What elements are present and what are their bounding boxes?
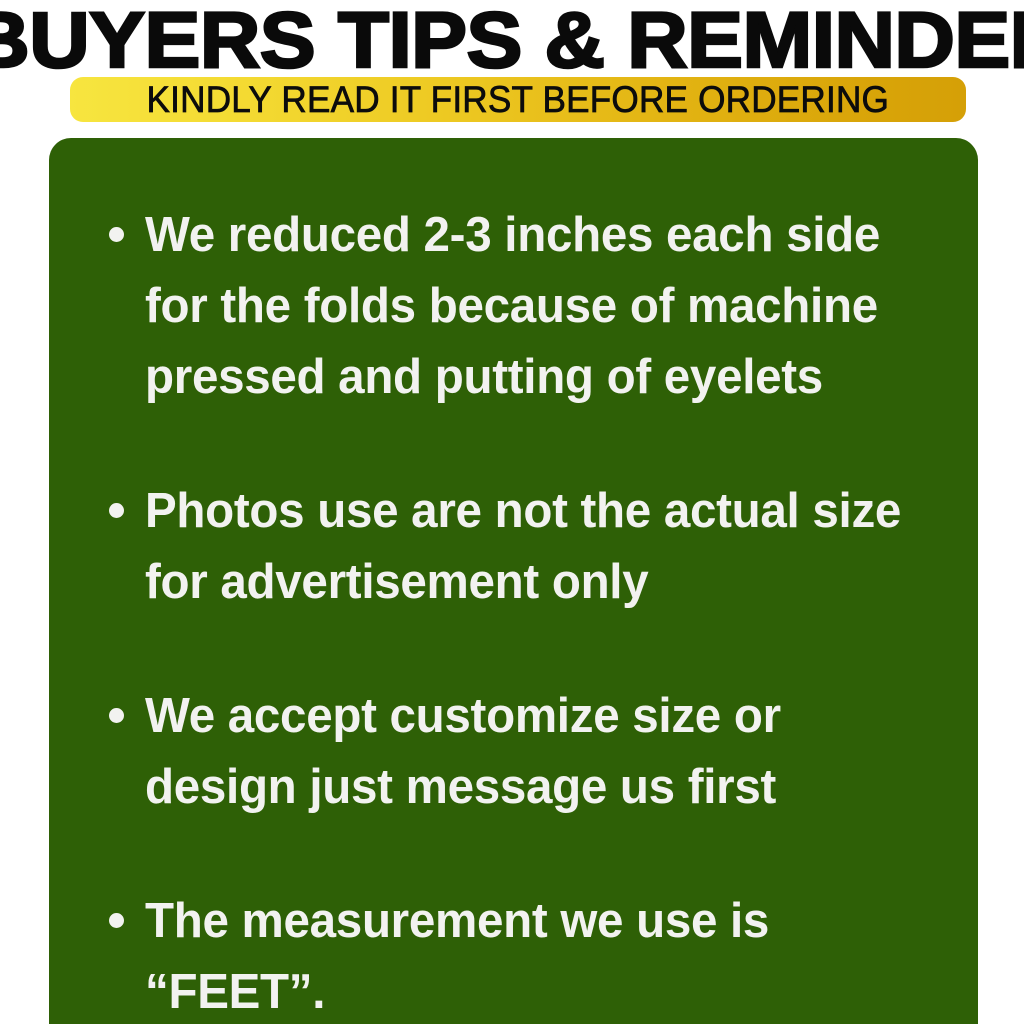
list-item: Photos use are not the actual size for a… [49, 476, 978, 618]
list-item: The measurement we use is “FEET”. [49, 886, 978, 1024]
buyers-tips-poster: BUYERS TIPS & REMINDERS KINDLY READ IT F… [0, 0, 1024, 1024]
bullet-icon [109, 227, 124, 242]
subtitle-banner: KINDLY READ IT FIRST BEFORE ORDERING [70, 77, 966, 122]
subtitle-banner-label: KINDLY READ IT FIRST BEFORE ORDERING [147, 80, 890, 120]
tip-text: We reduced 2-3 inches each side for the … [145, 200, 939, 413]
bullet-icon [109, 913, 124, 928]
tip-text: Photos use are not the actual size for a… [145, 476, 939, 618]
list-item: We accept customize size or design just … [49, 681, 978, 823]
tip-text: The measurement we use is “FEET”. [145, 886, 939, 1024]
list-item: We reduced 2-3 inches each side for the … [49, 200, 978, 413]
tips-card: We reduced 2-3 inches each side for the … [49, 138, 978, 1024]
bullet-icon [109, 503, 124, 518]
page-title: BUYERS TIPS & REMINDERS [0, 2, 1024, 78]
bullet-icon [109, 708, 124, 723]
tip-text: We accept customize size or design just … [145, 681, 939, 823]
tips-list: We reduced 2-3 inches each side for the … [49, 138, 978, 1024]
